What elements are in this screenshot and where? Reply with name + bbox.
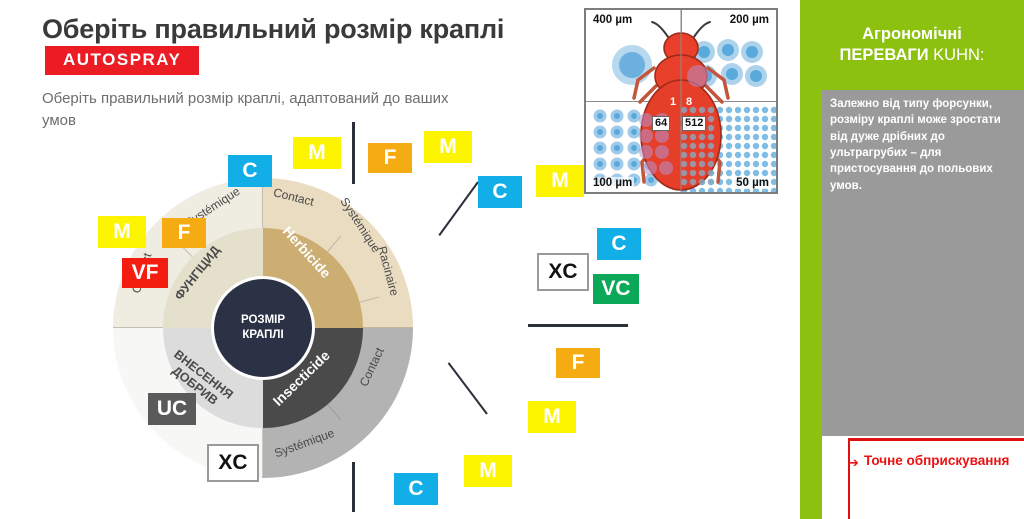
hub-line-1: РОЗМІР [241, 313, 285, 328]
droplet-badge-label: VF [132, 261, 159, 285]
droplet-badge-label: C [611, 232, 626, 256]
scale-label-200um: 200 µm [728, 14, 771, 26]
droplet-badge-label: XC [218, 451, 247, 475]
leader-line-lower-right [448, 362, 488, 414]
panel-gray-background [822, 186, 1024, 436]
axis-line-right [528, 324, 628, 327]
droplet-badge-m-1[interactable]: M [293, 137, 341, 169]
panel-heading-line1: Агрономічні [862, 24, 962, 45]
droplet-badge-label: M [308, 141, 326, 165]
page-title: Оберіть правильний розмір краплі [42, 14, 504, 45]
droplet-badge-label: C [242, 159, 257, 183]
droplet-badge-label: M [113, 220, 131, 244]
footer-callout-box [848, 438, 1024, 519]
droplet-badge-xc-15[interactable]: XC [207, 444, 259, 482]
droplet-badge-f-12[interactable]: F [556, 348, 600, 378]
wheel-hub: РОЗМІР КРАПЛІ [211, 276, 315, 380]
arrow-icon: ➔ [848, 455, 859, 471]
panel-heading-brand: KUHN: [929, 46, 985, 64]
droplet-badge-vf-8[interactable]: VF [122, 258, 168, 288]
droplet-badge-label: F [572, 351, 585, 375]
right-panel: Агрономічні ПЕРЕВАГИ KUHN: Залежно від т… [790, 0, 1024, 519]
droplet-density-illustration: 400 µm 200 µm 100 µm 50 µm 1 8 64 512 [584, 8, 778, 194]
droplet-badge-c-17[interactable]: C [394, 473, 438, 505]
droplet-badge-label: C [408, 477, 423, 501]
autospray-badge: AUTOSPRAY [45, 46, 199, 75]
droplet-badge-label: M [439, 135, 457, 159]
hub-line-2: КРАПЛІ [241, 328, 285, 343]
panel-heading: Агрономічні ПЕРЕВАГИ KUHN: [800, 0, 1024, 90]
droplet-badge-uc-14[interactable]: UC [148, 393, 196, 425]
droplet-badge-label: VC [601, 277, 630, 301]
droplet-badge-label: C [492, 180, 507, 204]
droplet-badge-label: M [543, 405, 561, 429]
droplet-badge-vc-11[interactable]: VC [593, 274, 639, 304]
droplet-badge-label: M [551, 169, 569, 193]
droplet-badge-label: M [479, 459, 497, 483]
droplet-badge-label: F [178, 221, 191, 245]
droplet-badge-m-13[interactable]: M [528, 401, 576, 433]
droplet-badge-m-3[interactable]: M [424, 131, 472, 163]
droplet-badge-f-2[interactable]: F [368, 143, 412, 173]
droplet-badge-xc-10[interactable]: XC [537, 253, 589, 291]
droplet-badge-m-16[interactable]: M [464, 455, 512, 487]
leader-line-upper-right [438, 181, 478, 236]
scale-label-100um: 100 µm [591, 177, 634, 189]
droplet-badge-f-7[interactable]: F [162, 218, 206, 248]
scale-label-400um: 400 µm [591, 14, 634, 26]
droplet-badge-m-5[interactable]: M [536, 165, 584, 197]
scale-label-50um: 50 µm [734, 177, 771, 189]
panel-heading-line2: ПЕРЕВАГИ KUHN: [839, 45, 984, 66]
main-content-area: Оберіть правильний розмір краплі AUTOSPR… [0, 0, 790, 519]
droplet-badge-m-6[interactable]: M [98, 216, 146, 248]
droplet-badge-label: F [384, 146, 397, 170]
count-label-64: 64 [652, 116, 670, 131]
panel-heading-line2-bold: ПЕРЕВАГИ [839, 46, 928, 64]
droplet-badge-label: UC [157, 397, 187, 421]
count-label-512: 512 [682, 116, 706, 131]
beetle-droplets-graphic [586, 10, 776, 192]
footer-callout-text: Точне обприскування [864, 452, 1024, 470]
axis-line-top [352, 122, 355, 184]
page-subtitle: Оберіть правильний розмір краплі, адапто… [42, 88, 482, 132]
count-label-8: 8 [686, 96, 692, 108]
droplet-badge-c-9[interactable]: C [597, 228, 641, 260]
panel-intro-text: Залежно від типу форсунки, розміру крапл… [822, 90, 1024, 186]
droplet-badge-label: XC [548, 260, 577, 284]
droplet-badge-c-0[interactable]: C [228, 155, 272, 187]
droplet-size-wheel: РОЗМІР КРАПЛІ Systémique Contact Contact… [113, 178, 413, 478]
droplet-badge-c-4[interactable]: C [478, 176, 522, 208]
count-label-1: 1 [670, 96, 676, 108]
